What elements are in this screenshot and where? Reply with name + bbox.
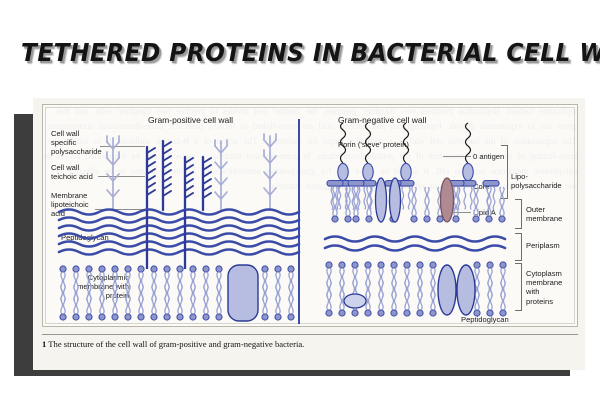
transmembrane-protein-1 <box>438 265 456 315</box>
figure-card: replicative fashion. Replication produce… <box>33 98 585 370</box>
gram-positive-peptidoglycan-layer <box>59 210 299 255</box>
bilayer-inner-leaflet <box>60 285 294 320</box>
porin-protein-2 <box>390 178 401 222</box>
porin-protein-3 <box>441 178 454 222</box>
gram-positive-cytoplasmic-membrane <box>60 265 294 321</box>
page-title: TETHERED PROTEINS IN BACTERIAL CELL WALL… <box>21 38 579 67</box>
transmembrane-protein-2 <box>457 265 475 315</box>
diagram-panel: Gram-positive cell wall Gram-negative ce… <box>42 104 578 327</box>
gram-positive-membrane-protein <box>228 265 258 321</box>
caption-divider-rule <box>42 334 578 335</box>
cell-wall-diagram <box>43 105 579 328</box>
gram-positive-surface-polymers <box>107 134 276 210</box>
porin-protein-1 <box>376 178 387 222</box>
gram-negative-outer-leaflet <box>327 178 505 222</box>
gram-negative-peptidoglycan-layer <box>325 237 505 251</box>
outer-membrane-inner-leaflet <box>332 187 505 222</box>
gram-negative-cytoplasmic-membrane <box>326 262 506 316</box>
figure-caption: 1The structure of the cell wall of gram-… <box>42 339 304 349</box>
caption-text: The structure of the cell wall of gram-p… <box>48 339 304 349</box>
bilayer-outer-leaflet <box>60 266 294 301</box>
bilayer-outer-leaflet-gn <box>326 262 506 297</box>
peripheral-membrane-protein <box>344 294 366 308</box>
caption-marker: 1 <box>42 339 46 349</box>
